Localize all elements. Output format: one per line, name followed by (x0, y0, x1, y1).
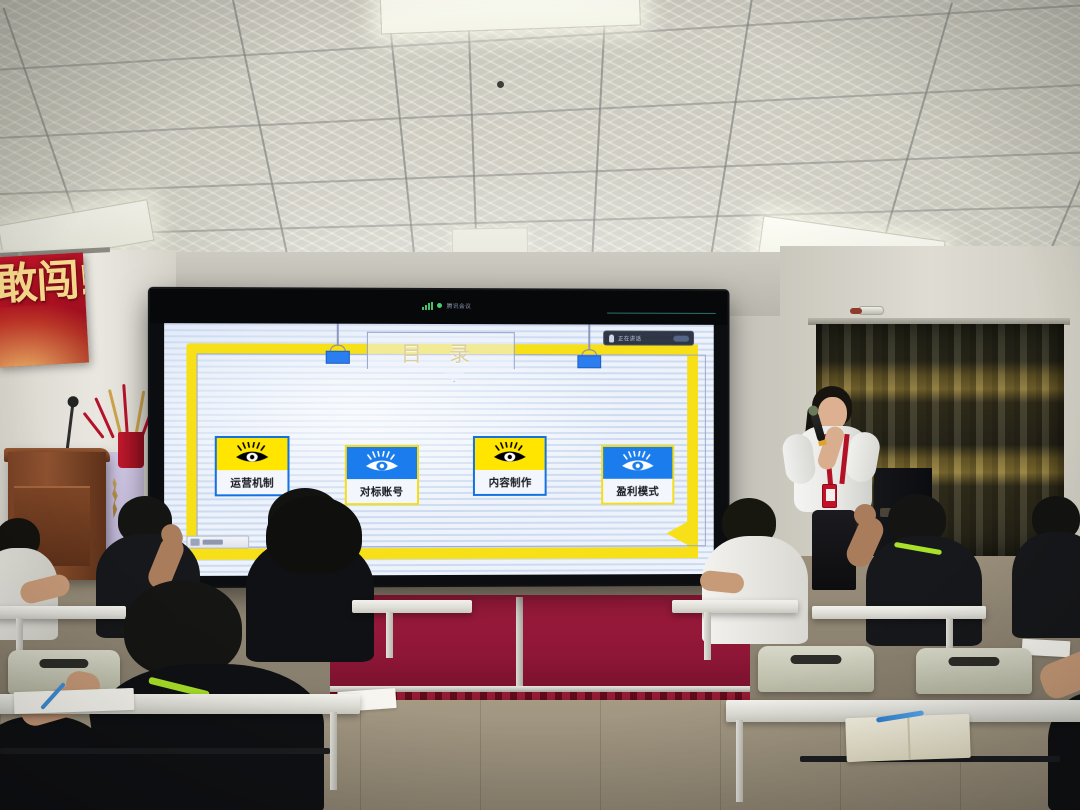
microphone-icon (609, 334, 614, 342)
signal-bars-icon (422, 301, 433, 309)
desk (812, 606, 986, 619)
display-top-bar: 腾讯会议 (150, 289, 728, 325)
agenda-item-label: 内容制作 (475, 470, 545, 494)
chair[interactable] (758, 646, 874, 692)
paper-sheet (14, 688, 135, 714)
eye-icon-svg (232, 442, 272, 466)
audience-member (1004, 496, 1080, 636)
audience-member (704, 498, 816, 642)
track-spotlight-icon (858, 306, 884, 315)
audience-member-silhouette (256, 496, 376, 616)
desk-leg (736, 720, 743, 802)
audience-member (1012, 640, 1080, 810)
top-bar-accent-line (607, 313, 716, 314)
desk-leg (704, 612, 711, 660)
open-notebook (845, 714, 970, 762)
eye-icon-svg (362, 451, 402, 475)
eye-icon (603, 447, 672, 479)
audience-member (0, 664, 178, 810)
hair (124, 580, 242, 676)
flower-vase (118, 432, 144, 468)
torso (0, 716, 108, 810)
status-dot-icon (437, 303, 442, 308)
flower-stem (122, 384, 129, 438)
meeting-app-label: 腾讯会议 (447, 301, 472, 310)
banner-glow (0, 300, 89, 367)
room-photo-scene: 敢闯! 腾讯会议 (0, 0, 1080, 810)
torso (1012, 532, 1080, 638)
audience-member (0, 518, 82, 638)
stage-seam (516, 597, 523, 689)
clip-body (326, 351, 350, 364)
triangle-arrow-left-icon (666, 521, 688, 545)
wall-banner: 敢闯! (0, 253, 89, 368)
agenda-item-4[interactable]: 盈利模式 (601, 445, 674, 505)
chair-handle-slot (948, 657, 999, 666)
speaking-tooltip-label: 正在讲话 (618, 334, 641, 342)
eye-icon (475, 438, 545, 470)
eye-icon-svg (490, 442, 530, 466)
desk-leg (330, 712, 337, 790)
banner-text: 敢闯! (0, 256, 88, 309)
torso (866, 536, 982, 646)
agenda-item-label: 盈利模式 (603, 479, 672, 503)
agenda-item-3[interactable]: 内容制作 (473, 436, 547, 496)
chair-handle-slot (790, 655, 841, 664)
slide-title: 目 录 (401, 338, 481, 368)
desk (672, 600, 798, 613)
clip-wire (588, 323, 589, 350)
presenter-id-badge (822, 484, 837, 508)
desk-leg (386, 612, 393, 658)
desk-rail (0, 748, 330, 754)
speaking-tooltip: 正在讲话 (603, 330, 694, 345)
eye-icon-svg (618, 451, 658, 475)
eye-icon (346, 447, 416, 479)
audience-member (866, 494, 988, 644)
clip-body (577, 355, 601, 368)
clip-wire (337, 323, 339, 346)
presentation-display[interactable]: 腾讯会议 目 录 (150, 289, 728, 586)
hair (266, 496, 362, 574)
meeting-app-status: 腾讯会议 (422, 301, 472, 310)
arm (1036, 641, 1080, 702)
eye-icon (217, 438, 288, 470)
tooltip-accent (673, 336, 689, 342)
